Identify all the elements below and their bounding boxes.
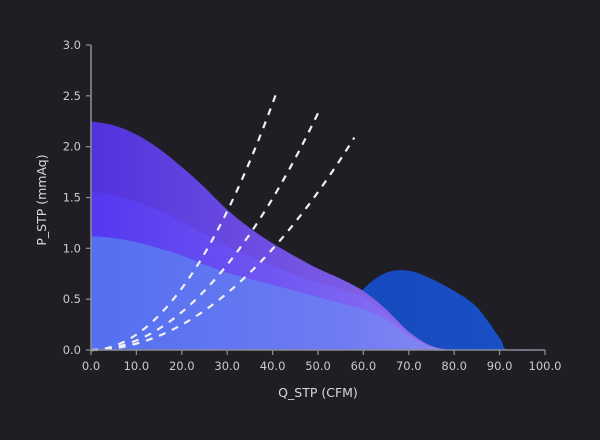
x-tick-label: 20.0: [169, 359, 195, 373]
x-tick-label: 60.0: [351, 359, 377, 373]
y-tick-label: 3.0: [63, 38, 81, 52]
y-tick-label: 2.0: [63, 140, 81, 154]
x-tick-label: 30.0: [214, 359, 240, 373]
y-tick-label: 1.5: [63, 191, 81, 205]
x-tick-label: 50.0: [305, 359, 331, 373]
x-tick-label: 40.0: [260, 359, 286, 373]
fan-performance-chart: 0.00.51.01.52.02.53.00.010.020.030.040.0…: [0, 0, 600, 440]
x-tick-label: 10.0: [124, 359, 150, 373]
y-tick-label: 0.5: [63, 292, 81, 306]
x-tick-label: 80.0: [441, 359, 467, 373]
chart-canvas: 0.00.51.01.52.02.53.00.010.020.030.040.0…: [0, 0, 600, 440]
y-tick-label: 2.5: [63, 89, 81, 103]
x-tick-label: 0.0: [82, 359, 100, 373]
x-tick-label: 100.0: [529, 359, 562, 373]
y-tick-label: 1.0: [63, 241, 81, 255]
x-tick-label: 70.0: [396, 359, 422, 373]
y-tick-label: 0.0: [63, 343, 81, 357]
x-axis-title: Q_STP (CFM): [278, 385, 358, 400]
x-tick-label: 90.0: [487, 359, 513, 373]
area-series-group: [91, 121, 545, 351]
y-axis-title: P_STP (mmAq): [34, 154, 49, 245]
